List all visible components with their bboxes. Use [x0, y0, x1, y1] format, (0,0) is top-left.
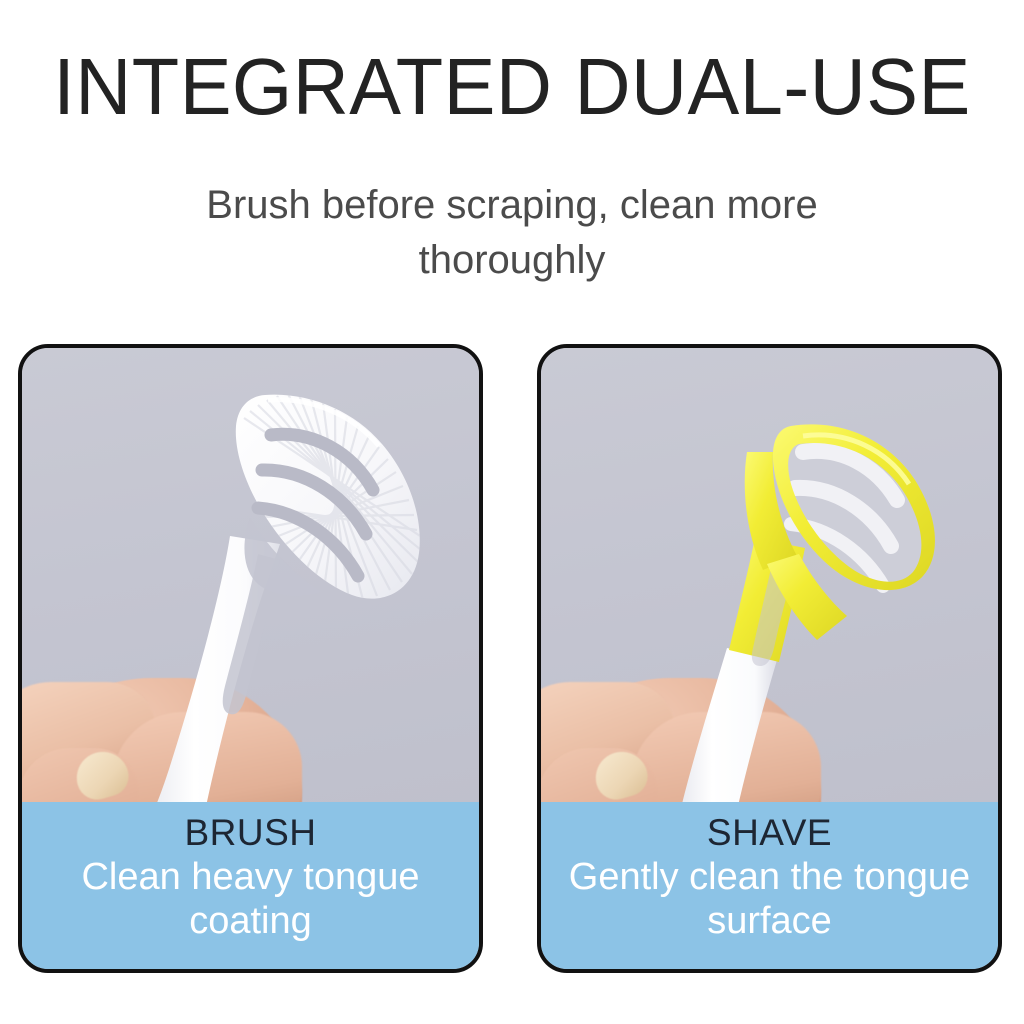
panel-brush: BRUSH Clean heavy tongue coating: [18, 344, 483, 973]
scraper-handle: [677, 648, 777, 810]
caption-body: Clean heavy tongue coating: [22, 855, 479, 943]
caption-brush: BRUSH Clean heavy tongue coating: [22, 802, 479, 969]
caption-shave: SHAVE Gently clean the tongue surface: [541, 802, 998, 969]
page-subtitle: Brush before scraping, clean more thorou…: [162, 178, 862, 288]
brush-head: [236, 394, 432, 601]
caption-title: SHAVE: [541, 811, 998, 854]
page-title: INTEGRATED DUAL-USE: [15, 44, 1008, 130]
caption-body: Gently clean the tongue surface: [541, 855, 998, 943]
caption-title: BRUSH: [22, 811, 479, 854]
panel-shave: SHAVE Gently clean the tongue surface: [537, 344, 1002, 973]
tongue-scraper-tool: [541, 348, 998, 810]
product-photo-shave: [541, 348, 998, 810]
product-photo-brush: [22, 348, 479, 810]
tongue-brush-tool: [22, 348, 479, 810]
